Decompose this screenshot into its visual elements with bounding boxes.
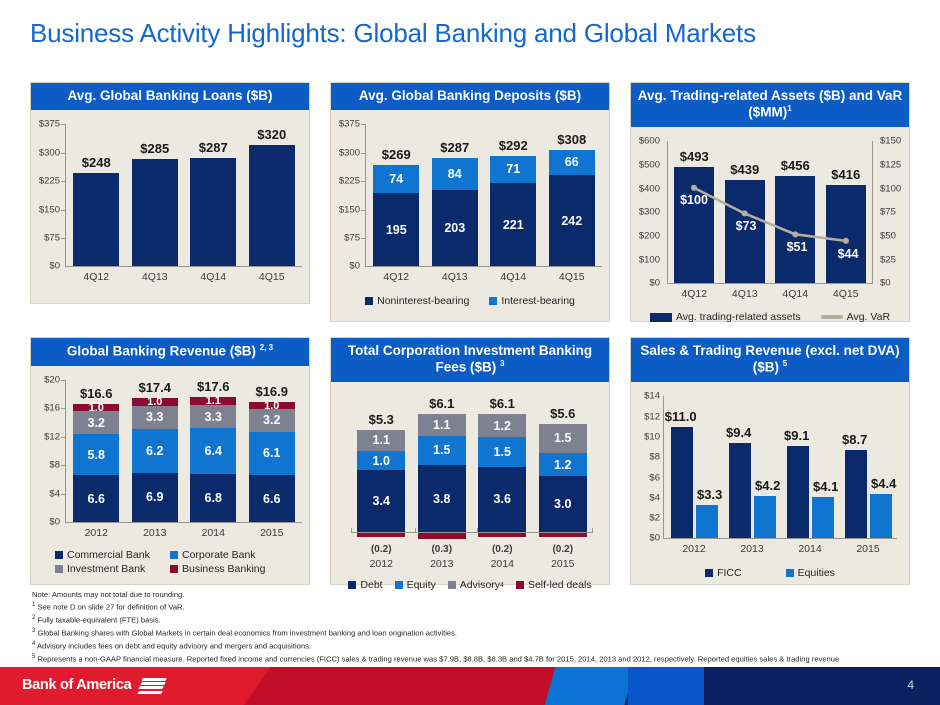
legend-item[interactable]: Equities <box>786 567 835 579</box>
legend-item[interactable]: Business Banking <box>170 563 285 575</box>
y-tick-right: $150 <box>880 136 901 147</box>
bar-segment-commercial-bank[interactable]: 6.6 <box>249 475 295 522</box>
bar-total-label: $320 <box>257 127 286 142</box>
y-tick: $4 <box>49 488 60 499</box>
y-tick-right: $25 <box>880 254 896 265</box>
y-tick: $150 <box>39 204 60 215</box>
tick <box>61 181 65 182</box>
chart-panel-sales-trading: Sales & Trading Revenue (excl. net DVA) … <box>630 337 910 585</box>
chart-title-gb-revenue: Global Banking Revenue ($B) 2, 3 <box>31 338 309 366</box>
bar-segment-advisory[interactable]: 1.1 <box>357 430 405 451</box>
y-axis-gb-revenue: $20 $16 $12 $8 $4 $0 <box>31 380 65 522</box>
bar-equities[interactable] <box>870 494 892 539</box>
y-tick: $75 <box>344 233 360 244</box>
x-label: 2013 <box>126 527 185 539</box>
chart-title-sup: 3 <box>500 359 504 368</box>
y-tick: $2 <box>649 513 660 524</box>
y-tick: $300 <box>639 207 660 218</box>
bar-equities[interactable] <box>696 505 718 538</box>
bar-total-label: $439 <box>730 162 759 177</box>
chart-title-sup: 2, 3 <box>260 343 273 352</box>
y-tick: $0 <box>49 516 60 527</box>
legend-swatch <box>365 297 373 305</box>
footnote-sup: 3 <box>32 628 35 634</box>
bar-label-equities: $4.4 <box>871 476 896 491</box>
legend-label: Avg. VaR <box>847 311 890 323</box>
legend-gb-revenue: Commercial Bank Corporate Bank Investmen… <box>31 548 309 576</box>
bar-group-ib-fees: $5.3 1.1 1.0 3.4 $6.1 1.1 1.5 3.8 $6.1 1… <box>351 404 593 532</box>
x-axis-gb-deposits: 4Q12 4Q13 4Q14 4Q15 <box>367 271 601 283</box>
bar-total-label: $5.3 <box>369 412 394 427</box>
bar-slot: $9.1 $4.1 <box>781 396 839 538</box>
bar-negative[interactable] <box>539 533 587 537</box>
legend-swatch <box>170 551 178 559</box>
y-tick: $600 <box>639 136 660 147</box>
bar-ficc[interactable] <box>729 443 751 538</box>
y-tick: $14 <box>644 391 660 402</box>
bar-slot: $5.3 1.1 1.0 3.4 <box>351 404 412 532</box>
bar[interactable]: 66 242 <box>549 150 595 267</box>
tick <box>61 494 65 495</box>
y-tick: $375 <box>39 119 60 130</box>
var-point-label: $73 <box>736 219 757 233</box>
bar-segment-corporate-bank[interactable]: 6.4 <box>190 428 236 473</box>
bar-group-sales-trading: $11.0 $3.3 $9.4 $4.2 $9.1 $4.1 $8.7 $4.4 <box>665 396 897 538</box>
bar-total-label: $308 <box>557 132 586 147</box>
footnote-text: Represents a non-GAAP financial measure.… <box>37 654 839 663</box>
bar-segment-equity[interactable]: 1.0 <box>357 451 405 470</box>
y-axis-right-trading: $150 $125 $100 $75 $50 $25 $0 <box>875 141 909 283</box>
tick <box>361 238 365 239</box>
tick <box>61 408 65 409</box>
bar-slot: $439 <box>720 141 771 283</box>
chart-title-ib-fees: Total Corporation Investment Banking Fee… <box>331 338 609 382</box>
chart-title-text: Global Banking Revenue ($B) <box>67 344 256 359</box>
plot-area-trading-assets-var: $600 $500 $400 $300 $200 $100 $0 $150 $1… <box>631 127 909 320</box>
bar-slot-negative <box>351 533 412 537</box>
bar-slot: $285 <box>126 124 185 266</box>
bar-slot: $6.1 1.2 1.5 3.6 <box>472 404 533 532</box>
bar-equities[interactable] <box>812 497 834 539</box>
bar-group-gb-loans: $248 $285 $287 $320 <box>67 124 301 266</box>
bar[interactable] <box>674 167 714 284</box>
bar[interactable] <box>190 158 236 267</box>
x-label: 2014 <box>781 543 839 555</box>
chart-title-text: Avg. Trading-related Assets ($B) and VaR… <box>638 88 903 120</box>
bar-segment-advisory[interactable]: 1.1 <box>418 414 466 435</box>
bar-total-label: $6.1 <box>429 396 454 411</box>
chart-title-gb-loans: Avg. Global Banking Loans ($B) <box>31 83 309 110</box>
plot-area-sales-trading: $14 $12 $10 $8 $6 $4 $2 $0 $11.0 $3.3 $9… <box>631 382 909 582</box>
bar-negative[interactable] <box>357 533 405 537</box>
y-tick: $6 <box>649 472 660 483</box>
x-label: 4Q13 <box>720 288 771 300</box>
footnote-sup: 2 <box>32 615 35 621</box>
axis-vertical <box>65 124 66 267</box>
legend-swatch <box>170 565 178 573</box>
bar-total-label: $292 <box>499 138 528 153</box>
bar-segment-equity[interactable]: 1.5 <box>478 437 526 466</box>
y-tick: $12 <box>44 431 60 442</box>
y-axis-left-trading: $600 $500 $400 $300 $200 $100 $0 <box>631 141 665 283</box>
bar-ficc[interactable] <box>845 450 867 538</box>
bar-label-equities: $4.1 <box>813 479 838 494</box>
bar-total-label: $493 <box>680 149 709 164</box>
var-point-label: $100 <box>680 193 708 207</box>
legend-swatch-line <box>821 315 843 319</box>
x-axis-ib-fees: 2012 2013 2014 2015 <box>351 558 593 570</box>
y-tick: $0 <box>49 261 60 272</box>
bar-total-label: $285 <box>140 141 169 156</box>
legend-item[interactable]: Interest-bearing <box>489 295 575 307</box>
axis-horizontal <box>65 266 302 267</box>
bar-segment-commercial-bank[interactable]: 6.8 <box>190 474 236 522</box>
x-label: 2012 <box>665 543 723 555</box>
tick <box>61 380 65 381</box>
bar-total-label: $17.6 <box>197 379 230 394</box>
legend-label: Business Banking <box>182 563 265 575</box>
axis-vertical <box>365 124 366 267</box>
bar[interactable]: 1.1 1.0 3.4 <box>357 430 405 533</box>
x-axis-sales-trading: 2012 2013 2014 2015 <box>665 543 897 555</box>
x-label: 4Q14 <box>770 288 821 300</box>
bar-segment-debt[interactable]: 3.6 <box>478 467 526 533</box>
bar-segment-debt[interactable]: 3.8 <box>418 465 466 533</box>
footnote-2: 2 Fully taxable-equivalent (FTE) basis. <box>32 614 922 627</box>
legend-sales-trading: FICC Equities <box>631 566 909 580</box>
bar-slot-negative <box>533 533 594 537</box>
chart-panel-gb-revenue: Global Banking Revenue ($B) 2, 3 $20 $16… <box>30 337 310 585</box>
y-tick: $4 <box>649 492 660 503</box>
bar-slot: $292 71 221 <box>484 124 543 266</box>
footnote-sup: 5 <box>32 654 35 660</box>
bar-segment-business-banking[interactable]: 1.0 <box>73 404 119 411</box>
x-label: 4Q14 <box>184 271 243 283</box>
y-tick-right: $0 <box>880 278 891 289</box>
bar-segment-noninterest[interactable]: 242 <box>549 175 595 267</box>
x-label: 4Q13 <box>426 271 485 283</box>
bar-label-ficc: $9.1 <box>784 428 809 443</box>
x-label: 4Q15 <box>543 271 602 283</box>
bar-segment-equity[interactable]: 1.2 <box>539 453 587 476</box>
bar-label-ficc: $9.4 <box>726 425 751 440</box>
bar[interactable] <box>775 176 815 284</box>
bar-segment-noninterest[interactable]: 221 <box>490 183 536 267</box>
y-tick: $12 <box>644 411 660 422</box>
footnote-5: 5 Represents a non-GAAP financial measur… <box>32 653 922 666</box>
footnote-text: Advisory includes fees on debt and equit… <box>37 641 311 650</box>
y-tick: $375 <box>339 119 360 130</box>
legend-swatch <box>786 569 794 577</box>
x-label: 2014 <box>472 558 533 570</box>
x-label: 4Q15 <box>243 271 302 283</box>
tick <box>361 124 365 125</box>
x-label: 2013 <box>723 543 781 555</box>
bar-total-label: $456 <box>781 158 810 173</box>
bar[interactable]: 1.0 3.2 5.8 6.6 <box>73 404 119 522</box>
legend-item[interactable]: Avg. trading-related assets <box>650 311 801 323</box>
chart-title-gb-deposits: Avg. Global Banking Deposits ($B) <box>331 83 609 110</box>
y-tick: $400 <box>639 183 660 194</box>
bar-slot: $493 <box>669 141 720 283</box>
y-tick: $500 <box>639 160 660 171</box>
tick <box>61 210 65 211</box>
var-point-label: $44 <box>838 247 859 261</box>
bar-segment-equity[interactable]: 1.5 <box>418 436 466 465</box>
bar-segment-commercial-bank[interactable]: 6.9 <box>132 473 178 522</box>
x-label: 2012 <box>67 527 126 539</box>
y-axis-sales-trading: $14 $12 $10 $8 $6 $4 $2 $0 <box>631 396 665 538</box>
axis-horizontal <box>663 538 897 539</box>
y-tick: $0 <box>349 261 360 272</box>
bar-segment-investment-bank[interactable]: 3.2 <box>249 409 295 432</box>
bar-total-label: $269 <box>382 147 411 162</box>
var-point-label: $51 <box>787 240 808 254</box>
y-axis-gb-deposits: $375 $300 $225 $150 $75 $0 <box>331 124 365 266</box>
negative-value-label: (0.2) <box>533 544 594 555</box>
axis-horizontal <box>65 522 302 523</box>
legend-label: FICC <box>717 567 742 579</box>
slide-footer: Bank of America 4 <box>0 667 940 705</box>
legend-item[interactable]: Noninterest-bearing <box>365 295 469 307</box>
x-label: 2015 <box>533 558 594 570</box>
footer-blue-band-1 <box>545 667 636 705</box>
y-tick-right: $125 <box>880 160 901 171</box>
bar[interactable] <box>249 145 295 266</box>
y-tick: $10 <box>644 432 660 443</box>
legend-swatch <box>650 313 672 322</box>
legend-label: Investment Bank <box>67 563 145 575</box>
bar-slot: $17.6 1.1 3.3 6.4 6.8 <box>184 380 243 522</box>
bar-slot: $6.1 1.1 1.5 3.8 <box>412 404 473 532</box>
negative-value-label: (0.2) <box>351 544 412 555</box>
legend-label: Corporate Bank <box>182 549 256 561</box>
legend-sup: 4 <box>500 582 504 589</box>
bar-segment-interest[interactable]: 84 <box>432 158 478 190</box>
bar-segment-advisory[interactable]: 1.5 <box>539 424 587 453</box>
x-label: 4Q14 <box>484 271 543 283</box>
page-number: 4 <box>907 678 914 692</box>
x-label: 4Q12 <box>367 271 426 283</box>
bar-slot: $287 84 203 <box>426 124 485 266</box>
bar-total-label: $287 <box>199 140 228 155</box>
bar-slot: $416 <box>821 141 872 283</box>
footnote-note: Note: Amounts may not total due to round… <box>32 589 922 601</box>
plot-area-gb-revenue: $20 $16 $12 $8 $4 $0 $16.6 1.0 3.2 5.8 6… <box>31 366 309 583</box>
bar-slot: $8.7 $4.4 <box>839 396 897 538</box>
bar[interactable]: 1.0 3.2 6.1 6.6 <box>249 402 295 522</box>
y-tick: $8 <box>649 452 660 463</box>
bar-slot: $456 <box>770 141 821 283</box>
bar[interactable] <box>132 159 178 267</box>
plot-area-gb-loans: $375 $300 $225 $150 $75 $0 $248 $285 $28… <box>31 110 309 301</box>
x-label: 2012 <box>351 558 412 570</box>
y-tick: $0 <box>649 278 660 289</box>
bar-segment-commercial-bank[interactable]: 6.6 <box>73 475 119 522</box>
bar-label-ficc: $8.7 <box>842 432 867 447</box>
bar[interactable]: 1.5 1.2 3.0 <box>539 424 587 533</box>
x-axis-gb-revenue: 2012 2013 2014 2015 <box>67 527 301 539</box>
y-tick: $75 <box>44 233 60 244</box>
bar-slot: $308 66 242 <box>543 124 602 266</box>
x-label: 2013 <box>412 558 473 570</box>
bar-total-label: $17.4 <box>138 380 171 395</box>
y-tick-right: $50 <box>880 231 896 242</box>
negative-value-label: (0.2) <box>472 544 533 555</box>
chart-title-sales-trading: Sales & Trading Revenue (excl. net DVA) … <box>631 338 909 382</box>
bar-segment-debt[interactable]: 3.0 <box>539 476 587 532</box>
bar-total-label: $287 <box>440 140 469 155</box>
legend-label: Interest-bearing <box>501 295 575 307</box>
legend-item[interactable]: Avg. VaR <box>821 311 890 323</box>
plot-area-gb-deposits: $375 $300 $225 $150 $75 $0 $269 74 195 $… <box>331 110 609 319</box>
bar-segment-corporate-bank[interactable]: 6.2 <box>132 429 178 473</box>
legend-trading: Avg. trading-related assets Avg. VaR <box>631 310 909 324</box>
bar[interactable]: 74 195 <box>373 165 419 267</box>
y-tick-right: $100 <box>880 183 901 194</box>
footnote-1: 1 See note D on slide 27 for definition … <box>32 601 922 614</box>
legend-label: Avg. trading-related assets <box>676 311 801 323</box>
y-tick: $20 <box>44 374 60 385</box>
footnote-sup: 1 <box>32 602 35 608</box>
bar[interactable]: 1.2 1.5 3.6 <box>478 414 526 532</box>
bar-segment-investment-bank[interactable]: 3.3 <box>190 405 236 428</box>
bar-negative[interactable] <box>478 533 526 537</box>
y-tick-right: $75 <box>880 207 896 218</box>
bar-segment-interest[interactable]: 66 <box>549 150 595 175</box>
bar[interactable]: 1.1 3.3 6.4 6.8 <box>190 397 236 522</box>
bar-segment-investment-bank[interactable]: 3.2 <box>73 411 119 434</box>
bar-segment-noninterest[interactable]: 203 <box>432 190 478 267</box>
chart-panel-ib-fees: Total Corporation Investment Banking Fee… <box>330 337 610 585</box>
bar-total-label: $16.6 <box>80 386 113 401</box>
y-tick: $100 <box>639 254 660 265</box>
y-tick: $225 <box>39 176 60 187</box>
bar-group-gb-revenue: $16.6 1.0 3.2 5.8 6.6 $17.4 1.0 3.3 6.2 … <box>67 380 301 522</box>
bar-slot-negative <box>412 533 473 539</box>
bar-slot: $287 <box>184 124 243 266</box>
bar-segment-business-banking[interactable]: 1.0 <box>249 402 295 409</box>
bar-group-trading: $493 $439 $456 $416 <box>669 141 871 283</box>
legend-swatch <box>55 551 63 559</box>
legend-item[interactable]: Corporate Bank <box>170 549 285 561</box>
bar-segment-business-banking[interactable]: 1.1 <box>190 397 236 405</box>
y-axis-gb-loans: $375 $300 $225 $150 $75 $0 <box>31 124 65 266</box>
legend-item[interactable]: FICC <box>705 567 742 579</box>
chart-panel-gb-loans: Avg. Global Banking Loans ($B) $375 $300… <box>30 82 310 304</box>
bar-total-label: $248 <box>82 155 111 170</box>
legend-label: Equities <box>798 567 835 579</box>
x-axis-gb-loans: 4Q12 4Q13 4Q14 4Q15 <box>67 271 301 283</box>
bar-segment-advisory[interactable]: 1.2 <box>478 414 526 437</box>
legend-label: Noninterest-bearing <box>377 295 469 307</box>
chart-title-text: Total Corporation Investment Banking Fee… <box>348 343 592 375</box>
bar-segment-business-banking[interactable]: 1.0 <box>132 398 178 405</box>
tick <box>361 210 365 211</box>
chart-title-sup: 1 <box>787 104 791 113</box>
bank-of-america-logo: Bank of America <box>22 675 168 695</box>
bar-total-label: $6.1 <box>490 396 515 411</box>
y-tick: $8 <box>49 460 60 471</box>
bar-slot: $9.4 $4.2 <box>723 396 781 538</box>
legend-item[interactable]: Commercial Bank <box>55 549 170 561</box>
tick <box>61 124 65 125</box>
bar-group-gb-deposits: $269 74 195 $287 84 203 $292 71 221 <box>367 124 601 266</box>
bar[interactable]: 1.0 3.3 6.2 6.9 <box>132 398 178 522</box>
axis-horizontal <box>667 283 873 284</box>
bar-total-label: $416 <box>831 167 860 182</box>
tick <box>361 153 365 154</box>
bar-segment-interest[interactable]: 74 <box>373 165 419 193</box>
bar-segment-debt[interactable]: 3.4 <box>357 470 405 532</box>
bar-slot: $16.9 1.0 3.2 6.1 6.6 <box>243 380 302 522</box>
bar-segment-corporate-bank[interactable]: 6.1 <box>249 432 295 475</box>
bar[interactable] <box>826 185 866 283</box>
legend-item[interactable]: Investment Bank <box>55 563 170 575</box>
bar-equities[interactable] <box>754 496 776 539</box>
footnote-sup: 4 <box>32 641 35 647</box>
x-axis-trading: 4Q12 4Q13 4Q14 4Q15 <box>669 288 871 300</box>
bar[interactable]: 1.1 1.5 3.8 <box>418 414 466 532</box>
axis-vertical-left <box>667 141 668 284</box>
legend-swatch <box>705 569 713 577</box>
x-label: 4Q12 <box>669 288 720 300</box>
bar-ficc[interactable] <box>671 427 693 539</box>
bar[interactable] <box>73 173 119 267</box>
axis-vertical <box>65 380 66 523</box>
x-label: 2014 <box>184 527 243 539</box>
bar-slot: $5.6 1.5 1.2 3.0 <box>533 404 594 532</box>
y-tick: $225 <box>339 176 360 187</box>
bar-ficc[interactable] <box>787 446 809 538</box>
x-negative-values-ib-fees: (0.2) (0.3) (0.2) (0.2) <box>351 544 593 555</box>
chart-title-sup: 5 <box>783 359 787 368</box>
bar-negative[interactable] <box>418 533 466 539</box>
bar-label-equities: $4.2 <box>755 478 780 493</box>
y-tick: $150 <box>339 204 360 215</box>
plot-area-ib-fees: $5.3 1.1 1.0 3.4 $6.1 1.1 1.5 3.8 $6.1 1… <box>331 382 609 582</box>
legend-gb-deposits: Noninterest-bearing Interest-bearing <box>331 294 609 308</box>
bar-label-ficc: $11.0 <box>665 409 697 424</box>
bar-total-label: $5.6 <box>550 406 575 421</box>
legend-swatch <box>55 565 63 573</box>
axis-horizontal <box>365 266 602 267</box>
bar[interactable]: 84 203 <box>432 158 478 267</box>
x-label: 2015 <box>243 527 302 539</box>
bar-group-selfled <box>351 533 593 543</box>
bar-slot: $11.0 $3.3 <box>665 396 723 538</box>
tick <box>61 153 65 154</box>
footnote-text: Fully taxable-equivalent (FTE) basis. <box>37 616 160 625</box>
flag-icon <box>138 675 168 695</box>
bar-total-label: $16.9 <box>255 384 288 399</box>
footnote-3: 3 Global Banking shares with Global Mark… <box>32 627 922 640</box>
bar-segment-noninterest[interactable]: 195 <box>373 193 419 267</box>
footnote-text: See note D on slide 27 for definition of… <box>37 603 184 612</box>
bar-segment-interest[interactable]: 71 <box>490 156 536 183</box>
bar[interactable]: 71 221 <box>490 156 536 267</box>
bar-segment-corporate-bank[interactable]: 5.8 <box>73 434 119 475</box>
tick <box>361 181 365 182</box>
bar-segment-investment-bank[interactable]: 3.3 <box>132 406 178 429</box>
y-tick: $200 <box>639 231 660 242</box>
axis-vertical-right <box>872 141 873 284</box>
footer-blue-band-2 <box>628 667 708 705</box>
page-title: Business Activity Highlights: Global Ban… <box>30 18 910 49</box>
chart-panel-gb-deposits: Avg. Global Banking Deposits ($B) $375 $… <box>330 82 610 322</box>
y-tick: $16 <box>44 403 60 414</box>
chart-title-text: Sales & Trading Revenue (excl. net DVA) … <box>640 343 899 375</box>
